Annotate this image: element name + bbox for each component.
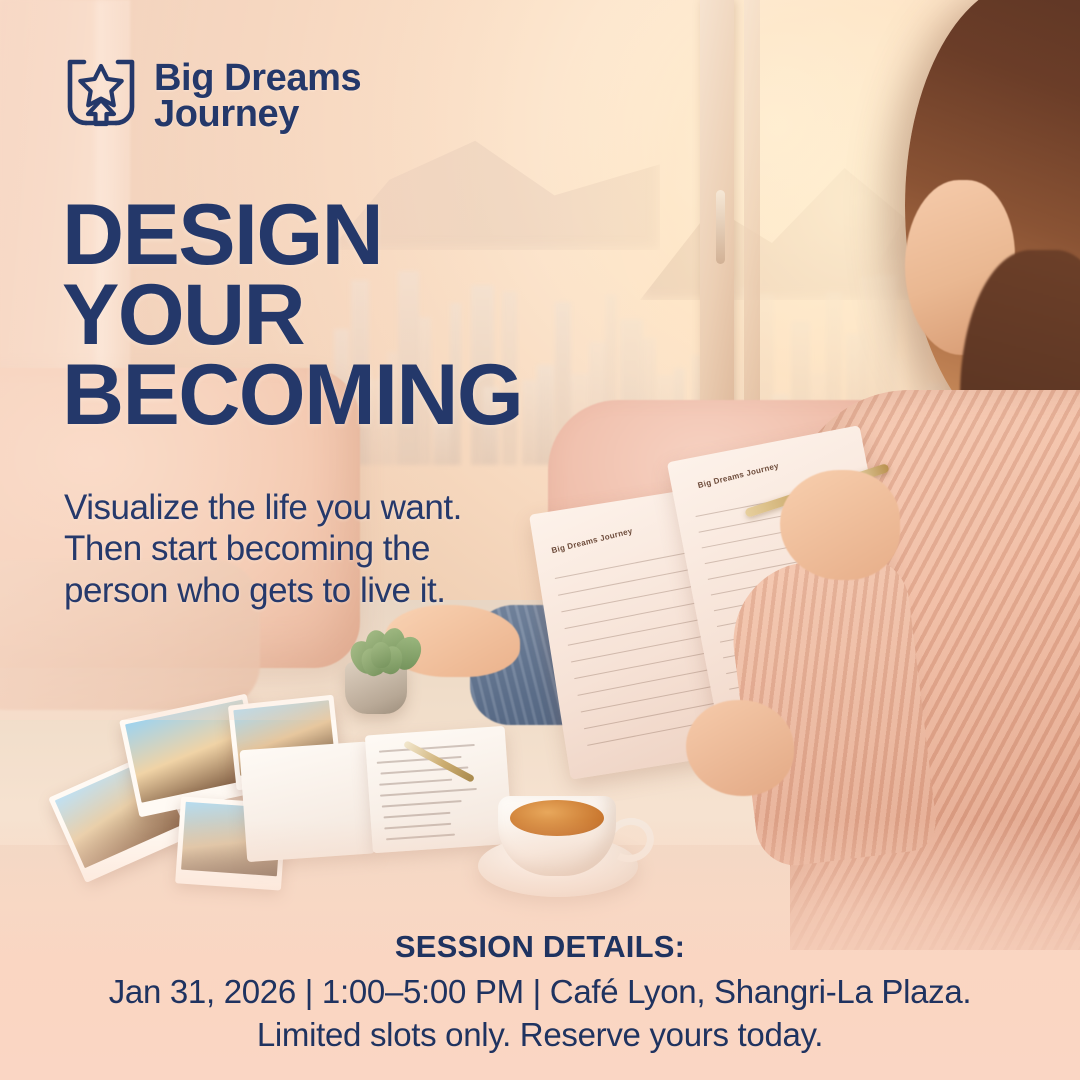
subheading-line-3: person who gets to live it. <box>64 570 462 611</box>
brand-logo: Big Dreams Journey <box>64 57 361 135</box>
session-details-info: Jan 31, 2026 | 1:00–5:00 PM | Café Lyon,… <box>0 971 1080 1014</box>
brand-name-line1: Big Dreams <box>154 60 361 96</box>
headline: DESIGN YOUR BECOMING <box>62 196 522 436</box>
subheading-line-1: Visualize the life you want. <box>64 487 462 528</box>
headline-line-3: BECOMING <box>62 356 522 436</box>
brand-name-line2: Journey <box>154 96 361 132</box>
subheading: Visualize the life you want. Then start … <box>64 487 462 611</box>
bracket-star-arrow-logo-icon <box>64 57 138 135</box>
subheading-line-2: Then start becoming the <box>64 528 462 569</box>
session-details-block: SESSION DETAILS: Jan 31, 2026 | 1:00–5:0… <box>0 930 1080 1057</box>
promotional-poster: Big Dreams JourneyBig Dreams Journey <box>0 0 1080 1080</box>
brand-wordmark: Big Dreams Journey <box>154 60 361 133</box>
poster-content: Big Dreams Journey DESIGN YOUR BECOMING … <box>0 0 1080 1080</box>
headline-line-1: DESIGN <box>62 196 522 276</box>
session-details-title: SESSION DETAILS: <box>0 930 1080 964</box>
headline-line-2: YOUR <box>62 276 522 356</box>
session-details-cta: Limited slots only. Reserve yours today. <box>0 1014 1080 1057</box>
